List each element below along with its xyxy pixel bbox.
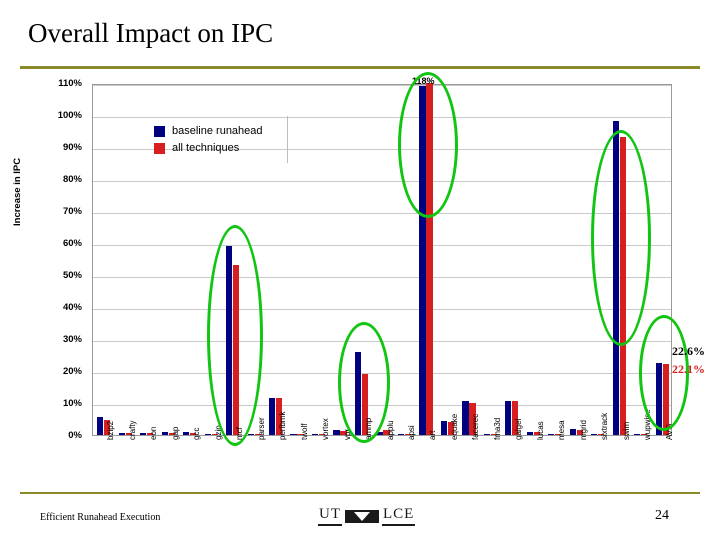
avg-baseline-callout: 22.6% <box>672 344 705 359</box>
bar-vortex-baseline <box>312 434 318 435</box>
highlight-ellipse-swim <box>591 130 651 346</box>
x-tick-label: bzip2 <box>106 421 115 440</box>
legend-color-swatch <box>154 126 165 137</box>
y-tick-label: 110% <box>34 78 82 89</box>
y-tick-label: 40% <box>34 302 82 313</box>
x-tick-label: parser <box>257 417 266 440</box>
x-tick-label: crafty <box>128 420 137 440</box>
highlight-ellipse-mcf <box>207 225 263 446</box>
x-tick-label: gcc <box>192 428 201 440</box>
gridline <box>93 181 671 182</box>
bar-perlbmk-baseline <box>269 398 275 435</box>
bar-vpr-baseline <box>333 430 339 435</box>
x-tick-label: gap <box>171 427 180 440</box>
bar-gcc-baseline <box>183 432 189 435</box>
legend-item-all-techniques: all techniques <box>154 142 281 154</box>
title-divider <box>20 66 700 69</box>
bar-twolf-baseline <box>290 434 296 435</box>
y-tick-label: 30% <box>34 334 82 345</box>
gridline <box>93 85 671 86</box>
x-tick-label: vortex <box>321 418 330 440</box>
chart-legend: baseline runaheadall techniques <box>148 116 288 163</box>
legend-label: baseline runahead <box>172 125 263 137</box>
avg-all-techniques-callout: 22.1% <box>672 362 705 377</box>
footer-label: Efficient Runahead Execution <box>40 512 160 523</box>
highlight-ellipse-art <box>398 72 458 218</box>
logo-shield-icon <box>345 510 379 523</box>
legend-color-swatch <box>154 143 165 154</box>
x-tick-label: perlbmk <box>278 412 287 440</box>
y-tick-label: 20% <box>34 366 82 377</box>
bar-gzip-baseline <box>205 434 211 435</box>
page-title: Overall Impact on IPC <box>28 18 273 49</box>
bar-wupwise-baseline <box>634 434 640 435</box>
bar-lucas-baseline <box>527 432 533 435</box>
gridline <box>93 309 671 310</box>
x-tick-label: sixtrack <box>600 413 609 440</box>
bar-equake-baseline <box>441 421 447 435</box>
x-tick-label: galgel <box>514 419 523 440</box>
logo-text-lce: LCE <box>382 506 415 526</box>
bar-fma3d-baseline <box>484 434 490 435</box>
x-tick-label: art <box>428 431 437 440</box>
highlight-ellipse-ammp <box>338 322 390 443</box>
x-tick-label: swim <box>622 422 631 440</box>
bar-mgrid-baseline <box>570 429 576 435</box>
gridline <box>93 213 671 214</box>
bar-parser-baseline <box>248 434 254 435</box>
x-tick-label: mgrid <box>579 420 588 440</box>
y-tick-label: 70% <box>34 206 82 217</box>
slide-number: 24 <box>655 508 669 524</box>
logo-text-ut: UT <box>318 506 342 526</box>
y-tick-label: 80% <box>34 174 82 185</box>
x-tick-label: equake <box>450 414 459 440</box>
y-tick-label: 90% <box>34 142 82 153</box>
bar-apsi-baseline <box>398 434 404 435</box>
gridline <box>93 277 671 278</box>
x-tick-label: twolf <box>300 424 309 440</box>
x-tick-label: mesa <box>557 420 566 440</box>
legend-item-baseline-runahead: baseline runahead <box>154 125 281 137</box>
x-tick-label: facerec <box>471 414 480 440</box>
bar-gap-baseline <box>162 432 168 435</box>
ut-lce-logo: UT LCE <box>318 506 415 526</box>
y-tick-label: 100% <box>34 110 82 121</box>
x-tick-label: apsi <box>407 425 416 440</box>
x-tick-label: applu <box>386 420 395 440</box>
x-tick-label: lucas <box>536 421 545 440</box>
y-tick-label: 60% <box>34 238 82 249</box>
x-tick-label: fma3d <box>493 418 502 440</box>
bar-eon-baseline <box>140 433 146 435</box>
y-tick-label: 50% <box>34 270 82 281</box>
bar-facerec-baseline <box>462 401 468 435</box>
x-tick-label: eon <box>149 427 158 440</box>
y-tick-label: 0% <box>34 430 82 441</box>
legend-label: all techniques <box>172 142 239 154</box>
bar-galgel-baseline <box>505 401 511 435</box>
footer-divider <box>20 492 700 494</box>
gridline <box>93 245 671 246</box>
bar-mesa-baseline <box>548 434 554 435</box>
y-axis-title: Increase in IPC <box>12 158 23 226</box>
bar-sixtrack-baseline <box>591 434 597 435</box>
bar-bzip2-baseline <box>97 417 103 435</box>
y-tick-label: 10% <box>34 398 82 409</box>
bar-crafty-baseline <box>119 433 125 435</box>
